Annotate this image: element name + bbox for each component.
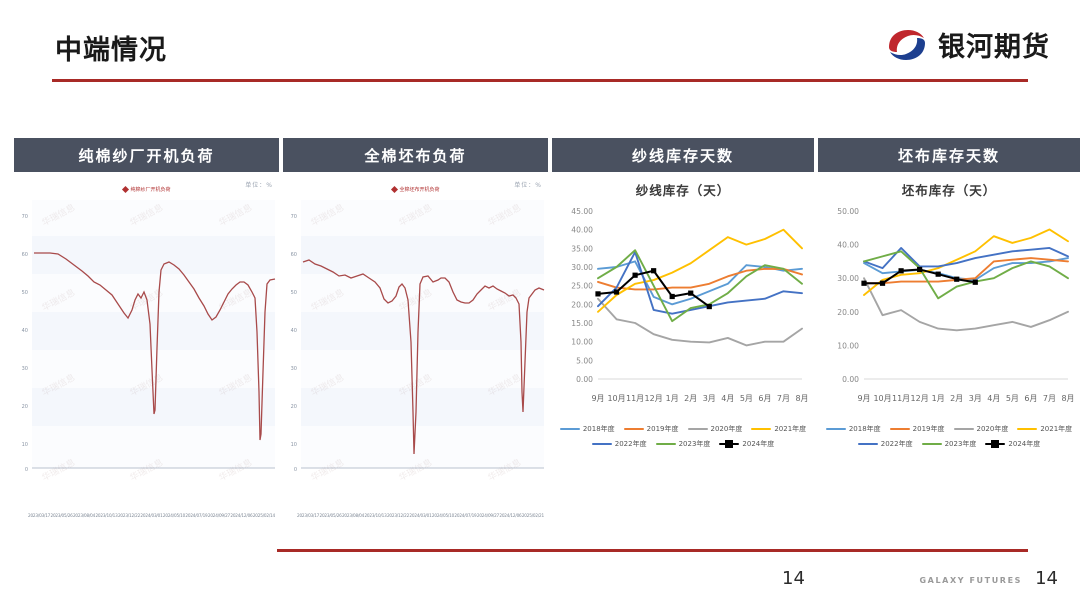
x-tick: 2023/08/04: [342, 513, 364, 518]
legend-item-2021[interactable]: 2021年度: [751, 424, 806, 434]
x-tick-label: 12月: [645, 394, 663, 403]
series-marker-2024年度: [973, 280, 978, 285]
svg-text:40: 40: [22, 328, 28, 334]
x-tick: 2024/09/27: [477, 513, 499, 518]
legend-label: 2020年度: [977, 424, 1009, 434]
slide: 中端情况 银河期货 纯棉纱厂开机负荷 单位：% 纯棉纱厂开机负荷: [0, 0, 1080, 608]
series-marker-2024年度: [707, 304, 712, 309]
red-line-plot-1: 70 60 50 40 30 20 10 0: [14, 172, 279, 490]
series-marker-2024年度: [936, 272, 941, 277]
x-tick-label: 12月: [911, 394, 929, 403]
legend-swatch-2023: [922, 443, 942, 446]
chart-title-4: 坯布库存（天）: [818, 180, 1080, 199]
series-line-2022年度: [598, 252, 802, 314]
chart-title-3: 纱线库存（天）: [552, 180, 814, 199]
x-tick: 2024/05/10: [432, 513, 454, 518]
y-tick-label: 0.00: [576, 375, 593, 384]
panel-title-1: 纯棉纱厂开机负荷: [14, 138, 279, 172]
x-tick-label: 6月: [1024, 394, 1037, 403]
svg-text:10: 10: [291, 442, 297, 448]
x-tick-label: 2月: [684, 394, 697, 403]
chart-corner-note-2: 单位：%: [514, 180, 542, 189]
legend-swatch-2019: [890, 428, 910, 431]
legend-diamond-icon: [390, 186, 397, 193]
legend-item-2023[interactable]: 2023年度: [656, 439, 711, 449]
svg-text:20: 20: [291, 404, 297, 410]
x-tick: 2024/03/01: [409, 513, 431, 518]
x-tick: 2023/10/13: [364, 513, 386, 518]
panel-title-4: 坯布库存天数: [818, 138, 1080, 172]
yarn-inventory-chart: 纱线库存（天） 0.005.0010.0015.0020.0025.0030.0…: [552, 172, 814, 449]
legend-swatch-2022: [858, 443, 878, 446]
legend-label: 2020年度: [711, 424, 743, 434]
svg-text:70: 70: [291, 214, 297, 220]
x-tick: 2024/09/27: [208, 513, 230, 518]
legend-label-2: 全棉坯布开机负荷: [399, 186, 439, 193]
x-tick-label: 2月: [950, 394, 963, 403]
panel-grey-fabric-inventory-days: 坯布库存天数 坯布库存（天） 0.0010.0020.0030.0040.005…: [818, 138, 1080, 449]
series-line-2020年度: [864, 278, 1068, 330]
x-tick-label: 5月: [740, 394, 753, 403]
svg-text:30: 30: [22, 366, 28, 372]
legend-label: 2021年度: [1040, 424, 1072, 434]
svg-text:20: 20: [22, 404, 28, 410]
footer-brand-text: GALAXY FUTURES: [920, 576, 1023, 585]
series-marker-2024年度: [954, 277, 959, 282]
x-tick: 2024/12/06: [230, 513, 252, 518]
series-marker-2024年度: [670, 294, 675, 299]
y-tick-label: 40.00: [571, 226, 593, 235]
panel-cotton-grey-fabric-load: 全棉坯布负荷 单位：% 全棉坯布开机负荷 70 60 5: [283, 138, 548, 518]
x-tick-label: 7月: [777, 394, 790, 403]
x-tick-label: 1月: [932, 394, 945, 403]
legend-row-2: 2022年度 2023年度 2024年度: [858, 439, 1040, 449]
panel-title-2: 全棉坯布负荷: [283, 138, 548, 172]
x-tick: 2023/10/13: [95, 513, 117, 518]
panel-body-2: 单位：% 全棉坯布开机负荷 70 60 50 40 30: [283, 172, 548, 518]
page-number: 14: [782, 568, 805, 589]
y-tick-label: 30.00: [571, 263, 593, 272]
x-tick: 2023/05/26: [50, 513, 72, 518]
panel-cotton-yarn-mill-operating-load: 纯棉纱厂开机负荷 单位：% 纯棉纱厂开机负荷 70 6: [14, 138, 279, 518]
series-marker-2024年度: [595, 291, 600, 296]
svg-text:60: 60: [22, 252, 28, 258]
panel-title-3: 纱线库存天数: [552, 138, 814, 172]
x-tick: 2023/12/22: [118, 513, 140, 518]
chart-inline-legend-2: 全棉坯布开机负荷: [391, 186, 439, 193]
x-tick-label: 9月: [591, 394, 604, 403]
legend-swatch-2020: [954, 428, 974, 431]
legend-item-2019[interactable]: 2019年度: [890, 424, 945, 434]
grey-fabric-inventory-plot: 0.0010.0020.0030.0040.0050.009月10月11月12月…: [824, 203, 1074, 418]
svg-text:70: 70: [22, 214, 28, 220]
legend-diamond-icon: [121, 186, 128, 193]
legend-item-2018[interactable]: 2018年度: [826, 424, 881, 434]
panel-body-1: 单位：% 纯棉纱厂开机负荷 70 60 50 40: [14, 172, 279, 518]
x-tick-label: 10月: [607, 394, 625, 403]
legend-label: 2022年度: [615, 439, 647, 449]
chart-inline-legend-1: 纯棉纱厂开机负荷: [122, 186, 170, 193]
series-marker-2024年度: [880, 281, 885, 286]
series-marker-2024年度: [861, 281, 866, 286]
red-line-chart-1: 单位：% 纯棉纱厂开机负荷 70 60 50 40: [14, 172, 279, 512]
legend-swatch-2021: [751, 428, 771, 431]
svg-text:30: 30: [291, 366, 297, 372]
x-tick: 2024/05/10: [163, 513, 185, 518]
svg-text:0: 0: [294, 467, 297, 473]
legend-item-2018[interactable]: 2018年度: [560, 424, 615, 434]
y-tick-label: 50.00: [837, 207, 859, 216]
legend-row-1: 2018年度 2019年度 2020年度 2021年度: [826, 424, 1072, 434]
legend-item-2021[interactable]: 2021年度: [1017, 424, 1072, 434]
page-title: 中端情况: [55, 28, 167, 67]
x-tick: 2023/03/17: [297, 513, 319, 518]
legend-label: 2024年度: [1008, 439, 1040, 449]
x-tick: 2023/05/26: [319, 513, 341, 518]
legend-row-2: 2022年度 2023年度 2024年度: [592, 439, 774, 449]
brand-lockup: 银河期货: [885, 25, 1050, 64]
x-tick: 2023/12/22: [387, 513, 409, 518]
legend-label-1: 纯棉纱厂开机负荷: [130, 186, 170, 193]
grey-fabric-inventory-chart: 坯布库存（天） 0.0010.0020.0030.0040.0050.009月1…: [818, 172, 1080, 449]
y-tick-label: 10.00: [571, 338, 593, 347]
chart-x-axis-labels-2: 2023/03/17 2023/05/26 2023/08/04 2023/10…: [283, 512, 548, 518]
brand-name: 银河期货: [938, 25, 1050, 64]
svg-text:0: 0: [25, 467, 28, 473]
legend-label: 2018年度: [849, 424, 881, 434]
series-line-2019年度: [598, 269, 802, 290]
x-tick-label: 4月: [987, 394, 1000, 403]
legend-row-1: 2018年度 2019年度 2020年度 2021年度: [560, 424, 806, 434]
legend-swatch-2018: [826, 428, 846, 431]
x-tick-label: 8月: [795, 394, 808, 403]
legend-swatch-2020: [688, 428, 708, 431]
x-tick: 2024/07/19: [185, 513, 207, 518]
x-tick: 2025/02/21: [522, 513, 544, 518]
legend-label: 2021年度: [774, 424, 806, 434]
panels-row: 纯棉纱厂开机负荷 单位：% 纯棉纱厂开机负荷 70 6: [0, 138, 1080, 518]
y-tick-label: 5.00: [576, 356, 593, 365]
chart-legend-4: 2018年度 2019年度 2020年度 2021年度 2022年度 2023年…: [818, 424, 1080, 449]
legend-swatch-2024: [985, 443, 1005, 446]
legend-item-2024[interactable]: 2024年度: [719, 439, 774, 449]
y-tick-label: 35.00: [571, 244, 593, 253]
series-marker-2024年度: [917, 267, 922, 272]
x-tick-label: 4月: [721, 394, 734, 403]
legend-swatch-2019: [624, 428, 644, 431]
legend-item-2024[interactable]: 2024年度: [985, 439, 1040, 449]
legend-swatch-2024: [719, 443, 739, 446]
y-tick-label: 20.00: [571, 300, 593, 309]
x-tick-label: 10月: [873, 394, 891, 403]
legend-item-2020[interactable]: 2020年度: [688, 424, 743, 434]
chart-corner-note-1: 单位：%: [245, 180, 273, 189]
yarn-inventory-plot: 0.005.0010.0015.0020.0025.0030.0035.0040…: [558, 203, 808, 418]
legend-label: 2022年度: [881, 439, 913, 449]
red-line-plot-2: 70 60 50 40 30 20 10 0: [283, 172, 548, 490]
x-tick: 2024/12/06: [499, 513, 521, 518]
legend-label: 2024年度: [742, 439, 774, 449]
y-tick-label: 0.00: [842, 375, 859, 384]
x-tick-label: 6月: [758, 394, 771, 403]
slide-header: 中端情况 银河期货: [0, 0, 1080, 100]
legend-label: 2023年度: [945, 439, 977, 449]
legend-label: 2018年度: [583, 424, 615, 434]
y-tick-label: 45.00: [571, 207, 593, 216]
y-tick-label: 10.00: [837, 341, 859, 350]
y-tick-label: 15.00: [571, 319, 593, 328]
legend-label: 2019年度: [647, 424, 679, 434]
series-marker-2024年度: [614, 289, 619, 294]
legend-swatch-2022: [592, 443, 612, 446]
legend-swatch-2023: [656, 443, 676, 446]
x-tick: 2025/02/14: [253, 513, 275, 518]
page-number-right: 14: [1035, 568, 1058, 589]
panel-body-3: 纱线库存（天） 0.005.0010.0015.0020.0025.0030.0…: [552, 172, 814, 449]
x-tick-label: 7月: [1043, 394, 1056, 403]
series-marker-2024年度: [898, 268, 903, 273]
legend-swatch-2021: [1017, 428, 1037, 431]
series-line-2018年度: [598, 261, 802, 304]
legend-item-2022[interactable]: 2022年度: [858, 439, 913, 449]
red-line-chart-2: 单位：% 全棉坯布开机负荷 70 60 50 40 30: [283, 172, 548, 512]
x-tick: 2023/08/04: [73, 513, 95, 518]
legend-label: 2023年度: [679, 439, 711, 449]
x-tick-label: 11月: [626, 394, 644, 403]
x-tick-label: 9月: [857, 394, 870, 403]
footer-divider: [277, 549, 1028, 552]
series-marker-2024年度: [688, 291, 693, 296]
x-tick: 2024/07/19: [454, 513, 476, 518]
legend-item-2023[interactable]: 2023年度: [922, 439, 977, 449]
y-tick-label: 40.00: [837, 241, 859, 250]
x-tick-label: 5月: [1006, 394, 1019, 403]
legend-label: 2019年度: [913, 424, 945, 434]
x-tick-label: 3月: [969, 394, 982, 403]
galaxy-swirl-logo-icon: [885, 27, 929, 63]
series-marker-2024年度: [651, 268, 656, 273]
x-tick-label: 8月: [1061, 394, 1074, 403]
x-tick-label: 1月: [666, 394, 679, 403]
y-tick-label: 30.00: [837, 274, 859, 283]
panel-body-4: 坯布库存（天） 0.0010.0020.0030.0040.0050.009月1…: [818, 172, 1080, 449]
x-tick-label: 11月: [892, 394, 910, 403]
legend-item-2020[interactable]: 2020年度: [954, 424, 1009, 434]
series-marker-2024年度: [632, 273, 637, 278]
x-tick: 2024/03/01: [140, 513, 162, 518]
legend-swatch-2018: [560, 428, 580, 431]
x-tick: 2023/03/17: [28, 513, 50, 518]
title-divider: [52, 79, 1028, 82]
chart-legend-3: 2018年度 2019年度 2020年度 2021年度 2022年度 2023年…: [552, 424, 814, 449]
panel-yarn-inventory-days: 纱线库存天数 纱线库存（天） 0.005.0010.0015.0020.0025…: [552, 138, 814, 449]
y-tick-label: 20.00: [837, 308, 859, 317]
y-tick-label: 25.00: [571, 282, 593, 291]
svg-text:10: 10: [22, 442, 28, 448]
legend-item-2022[interactable]: 2022年度: [592, 439, 647, 449]
svg-text:60: 60: [291, 252, 297, 258]
svg-text:50: 50: [22, 290, 28, 296]
chart-x-axis-labels-1: 2023/03/17 2023/05/26 2023/08/04 2023/10…: [14, 512, 279, 518]
svg-text:50: 50: [291, 290, 297, 296]
x-tick-label: 3月: [703, 394, 716, 403]
svg-text:40: 40: [291, 328, 297, 334]
legend-item-2019[interactable]: 2019年度: [624, 424, 679, 434]
